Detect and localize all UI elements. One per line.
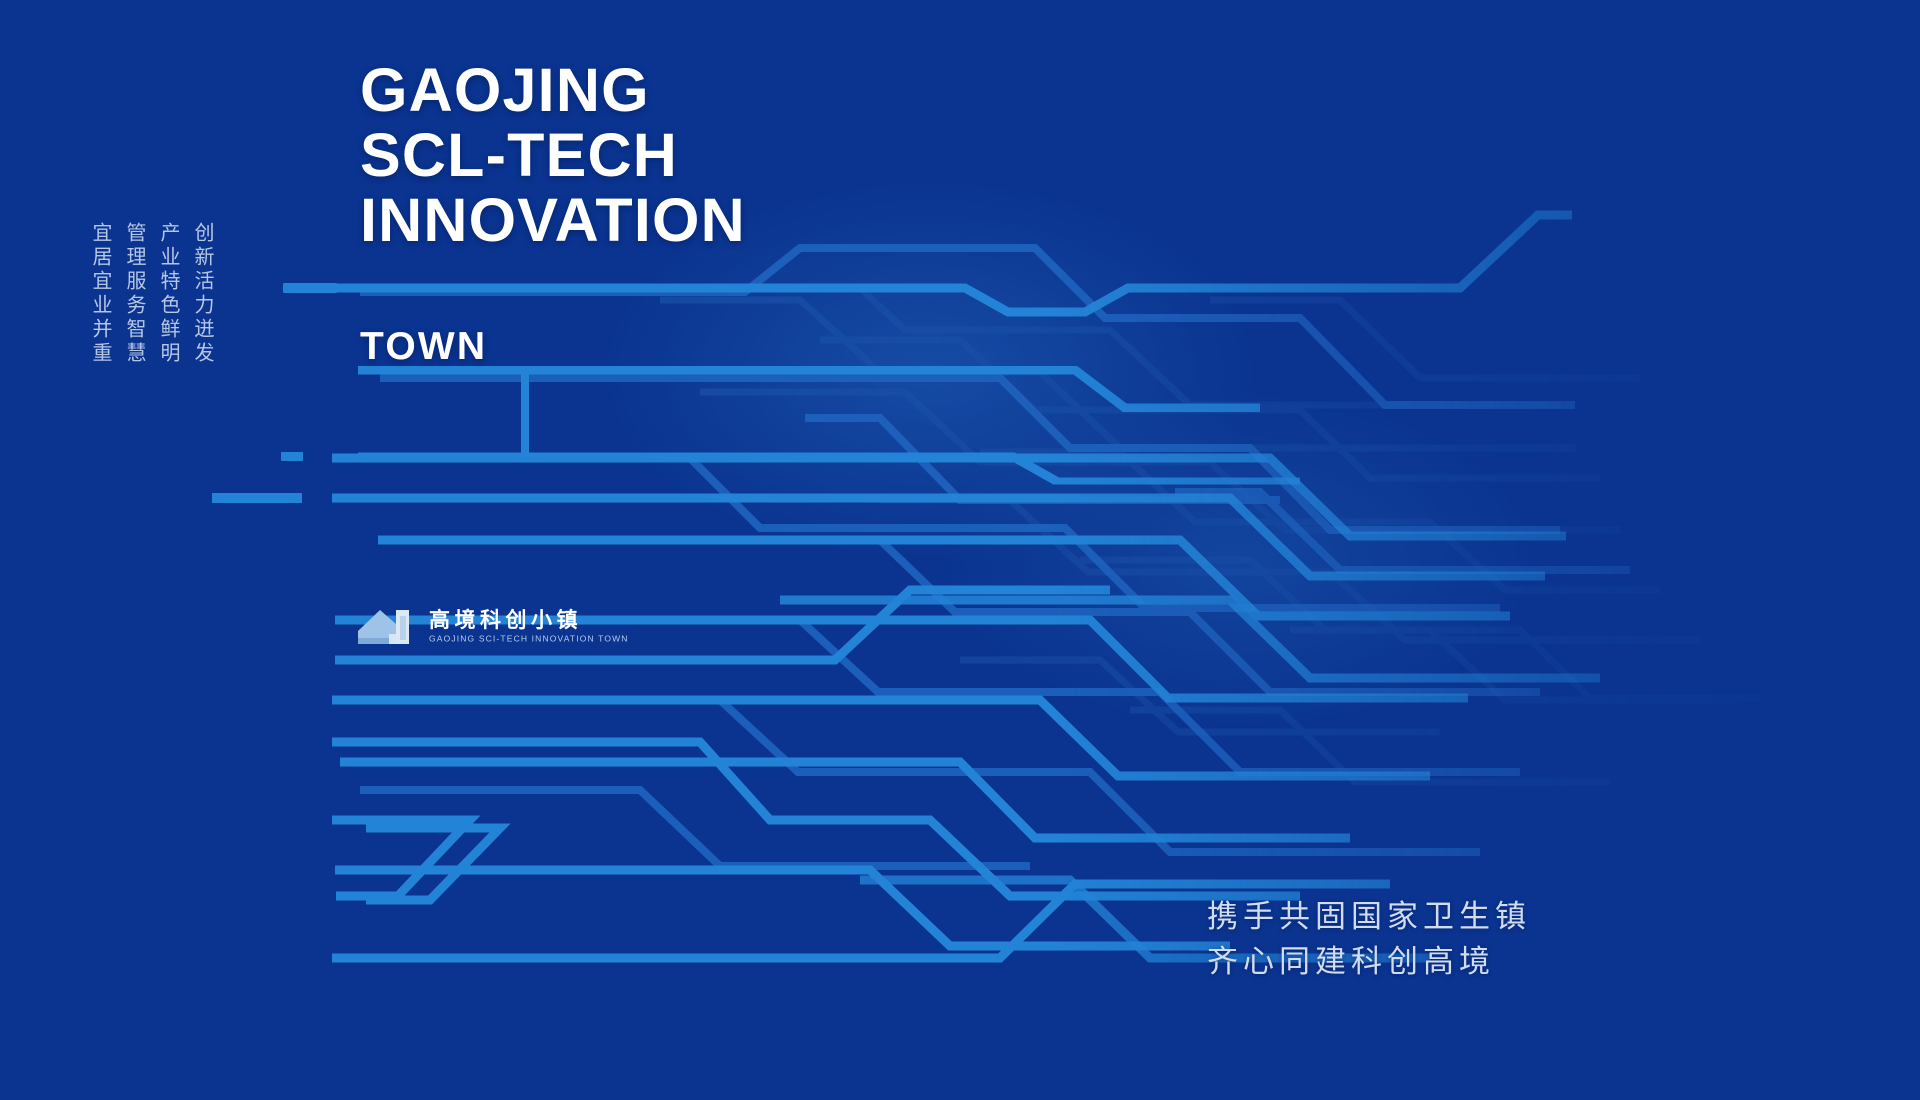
vertical-slogan-col-3: 管理服务智慧 xyxy=(122,222,147,432)
vertical-slogan-col-4: 宜居宜业并重 xyxy=(88,222,113,432)
ambient-glow-group xyxy=(600,180,1540,730)
headline-line-3: INNOVATION xyxy=(360,188,1180,253)
vertical-slogan: 创新活力迸发 产业特色鲜明 管理服务智慧 宜居宜业并重 xyxy=(88,222,215,432)
brand-logo: 高境科创小镇 GAOJING SCI-TECH INNOVATION TOWN xyxy=(356,604,629,648)
logo-name-en: GAOJING SCI-TECH INNOVATION TOWN xyxy=(429,634,629,643)
poster-canvas: 创新活力迸发 产业特色鲜明 管理服务智慧 宜居宜业并重 GAOJING SCL-… xyxy=(0,0,1920,1100)
circuit-dash-markers xyxy=(212,283,337,503)
circuit-traces-mid xyxy=(332,248,1630,866)
circuit-traces-faint xyxy=(660,288,1760,782)
bottom-slogan-line-2: 齐心同建科创高境 xyxy=(1207,940,1531,985)
logo-name-cn: 高境科创小镇 xyxy=(429,609,629,632)
bottom-slogan-line-1: 携手共固国家卫生镇 xyxy=(1207,895,1531,940)
logo-text-stack: 高境科创小镇 GAOJING SCI-TECH INNOVATION TOWN xyxy=(429,609,629,644)
house-building-logo-mark-icon xyxy=(356,604,418,648)
page-title: GAOJING SCL-TECH INNOVATION xyxy=(360,58,1180,253)
headline-subline-town: TOWN xyxy=(360,325,487,369)
vertical-slogan-col-1: 创新活力迸发 xyxy=(190,222,215,432)
headline-line-2: SCL-TECH xyxy=(360,123,1180,188)
headline-line-1: GAOJING xyxy=(360,58,1180,123)
vertical-slogan-col-2: 产业特色鲜明 xyxy=(156,222,181,432)
bottom-slogan: 携手共固国家卫生镇 齐心同建科创高境 xyxy=(1207,895,1531,985)
